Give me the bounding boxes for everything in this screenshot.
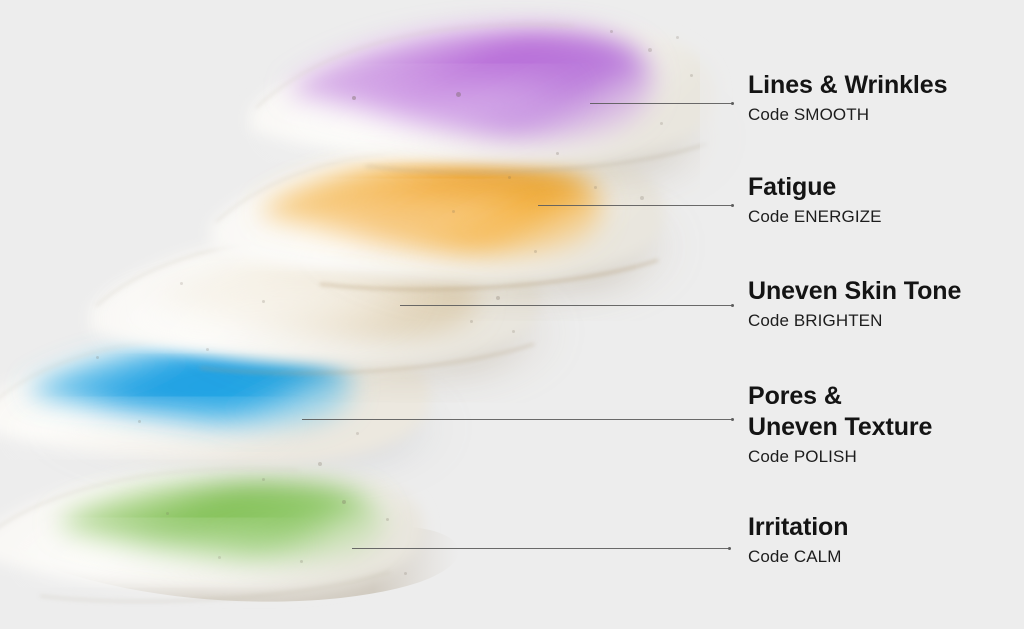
label-code: Code CALM <box>748 545 848 569</box>
label-title: Uneven Skin Tone <box>748 276 961 307</box>
label-title-line1: Pores & <box>748 381 932 412</box>
leader-endpoint-brighten <box>731 304 734 307</box>
label-fatigue: Fatigue Code ENERGIZE <box>748 172 882 229</box>
label-code: Code POLISH <box>748 445 932 469</box>
leader-endpoint-smooth <box>731 102 734 105</box>
label-title-line2: Uneven Texture <box>748 412 932 443</box>
label-uneven-skin-tone: Uneven Skin Tone Code BRIGHTEN <box>748 276 961 333</box>
swatch-diagram: Lines & Wrinkles Code SMOOTH Fatigue Cod… <box>0 0 1024 629</box>
label-pores-and-uneven-texture: Pores & Uneven Texture Code POLISH <box>748 381 932 469</box>
leader-line-energize <box>538 205 733 206</box>
leader-line-brighten <box>400 305 733 306</box>
label-title: Irritation <box>748 512 848 543</box>
leader-endpoint-calm <box>728 547 731 550</box>
label-title: Fatigue <box>748 172 882 203</box>
cream-swatch-photo <box>0 0 760 629</box>
label-irritation: Irritation Code CALM <box>748 512 848 569</box>
label-code: Code SMOOTH <box>748 103 947 127</box>
leader-line-polish <box>302 419 733 420</box>
leader-endpoint-energize <box>731 204 734 207</box>
leader-endpoint-polish <box>731 418 734 421</box>
label-lines-and-wrinkles: Lines & Wrinkles Code SMOOTH <box>748 70 947 127</box>
leader-line-calm <box>352 548 730 549</box>
label-title: Lines & Wrinkles <box>748 70 947 101</box>
leader-line-smooth <box>590 103 733 104</box>
label-code: Code ENERGIZE <box>748 205 882 229</box>
swatch-smooth <box>250 21 727 180</box>
swatch-calm <box>0 465 459 602</box>
label-code: Code BRIGHTEN <box>748 309 961 333</box>
